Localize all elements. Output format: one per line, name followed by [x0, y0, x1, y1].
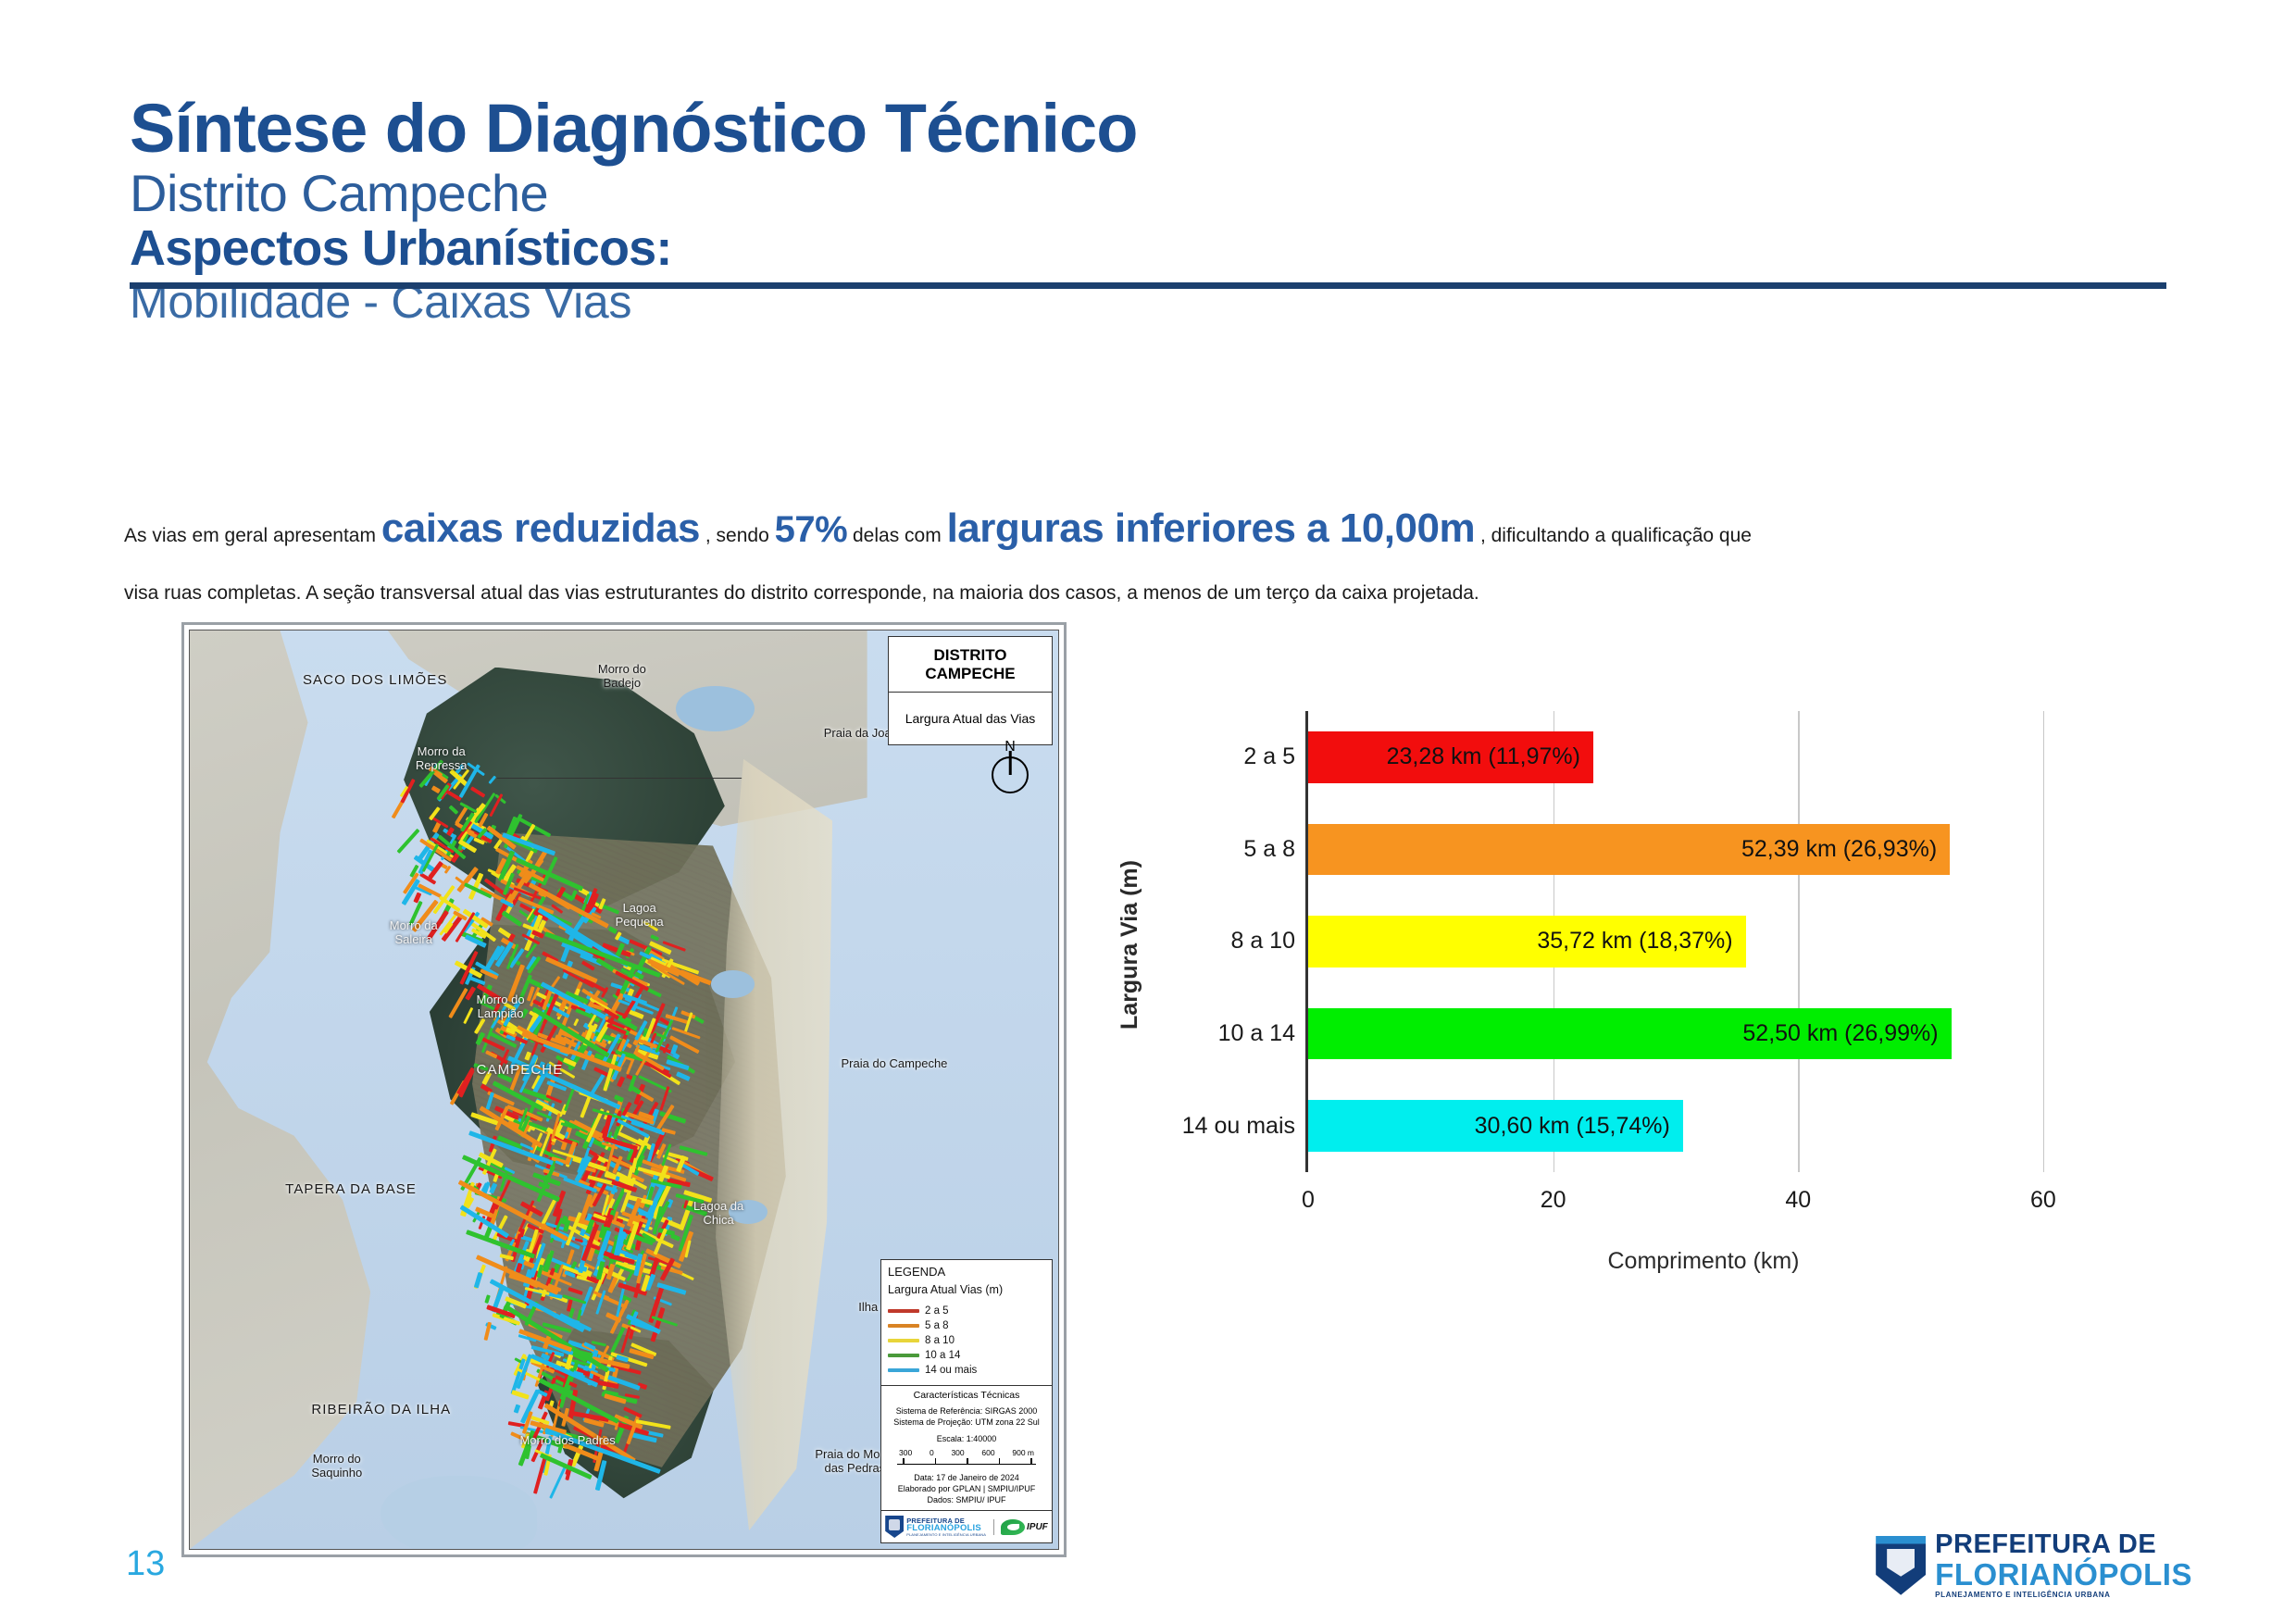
footer-logo-line1: PREFEITURA DE — [1935, 1531, 2192, 1559]
header-block: Síntese do Diagnóstico Técnico Distrito … — [130, 93, 2166, 328]
chart-bar-row: 10 a 1452,50 km (26,99%) — [1308, 1008, 2102, 1060]
chart-y-axis-label-text: Largura Via (m) — [1117, 860, 1143, 1030]
ipuf-logo: IPUF — [993, 1519, 1048, 1535]
body-text-c: delas com — [853, 525, 942, 546]
page-title: Síntese do Diagnóstico Técnico — [130, 93, 2166, 165]
footer-logo-line3: PLANEJAMENTO E INTELIGÊNCIA URBANA — [1935, 1592, 2192, 1599]
body-text-d: , dificultando a qualificação que — [1480, 525, 1752, 546]
map-logo-row: PREFEITURA DE FLORIANÓPOLIS PLANEJAMENTO… — [881, 1510, 1052, 1542]
prefeitura-logo-small: PREFEITURA DE FLORIANÓPOLIS PLANEJAMENTO… — [885, 1516, 986, 1538]
bar-chart: Largura Via (m) 2 a 523,28 km (11,97%)5 … — [1111, 704, 2176, 1315]
legend-item: 8 a 10 — [888, 1335, 1045, 1346]
legend-subheading: Largura Atual Vias (m) — [888, 1283, 1045, 1296]
technical-reference-system: Sistema de Referência: SIRGAS 2000 — [886, 1405, 1047, 1417]
legend-item: 14 ou mais — [888, 1365, 1045, 1376]
prefeitura-shield-icon — [885, 1516, 904, 1538]
map-technical-block: Características Técnicas Sistema de Refe… — [881, 1385, 1052, 1510]
legend-color-swatch — [888, 1309, 919, 1313]
chart-bar: 23,28 km (11,97%) — [1308, 731, 1593, 783]
prefeitura-logo-line3: PLANEJAMENTO E INTELIGÊNCIA URBANA — [906, 1533, 986, 1537]
legend-item-label: 5 a 8 — [925, 1320, 949, 1331]
chart-bar: 35,72 km (18,37%) — [1308, 916, 1746, 968]
chart-x-tick-label: 60 — [2030, 1187, 2056, 1214]
legend-color-swatch — [888, 1368, 919, 1372]
technical-heading: Características Técnicas — [886, 1390, 1047, 1401]
body-highlight-larguras: larguras inferiores a 10,00m — [947, 506, 1476, 551]
prefeitura-logo-words: PREFEITURA DE FLORIANÓPOLIS PLANEJAMENTO… — [906, 1517, 986, 1537]
legend-color-swatch — [888, 1354, 919, 1357]
map-subtitle-text: Largura Atual das Vias — [889, 693, 1052, 744]
body-highlight-caixas: caixas reduzidas — [381, 506, 700, 551]
scalebar-tick-labels: 3000300600900 m — [897, 1448, 1036, 1457]
map-title-line2: CAMPECHE — [892, 665, 1048, 683]
scalebar-tick: 600 — [981, 1448, 994, 1457]
header-district: Distrito Campeche — [130, 165, 2166, 222]
scalebar-tick: 300 — [951, 1448, 964, 1457]
chart-category-label: 5 a 8 — [1243, 836, 1295, 863]
chart-x-tick-label: 0 — [1302, 1187, 1315, 1214]
body-paragraph: As vias em geral apresentam caixas reduz… — [124, 507, 2216, 604]
header-section: Aspectos Urbanísticos: — [130, 221, 2166, 276]
chart-category-label: 14 ou mais — [1182, 1113, 1295, 1140]
legend-item-label: 14 ou mais — [925, 1365, 977, 1376]
body-text-a: As vias em geral apresentam — [124, 525, 376, 546]
chart-bar: 30,60 km (15,74%) — [1308, 1100, 1683, 1152]
chart-category-label: 8 a 10 — [1230, 928, 1295, 955]
map-legend-cartouche: LEGENDA Largura Atual Vias (m) 2 a 55 a … — [880, 1259, 1053, 1543]
header-divider — [130, 282, 2166, 289]
body-line-2: visa ruas completas. A seção transversal… — [124, 583, 2216, 604]
legend-item-label: 10 a 14 — [925, 1350, 960, 1361]
chart-plot-area: 2 a 523,28 km (11,97%)5 a 852,39 km (26,… — [1305, 711, 2102, 1172]
chart-bar-row: 5 a 852,39 km (26,93%) — [1308, 824, 2102, 876]
map-figure: SACO DOS LIMÕESMorro do BadejoMorro da R… — [181, 622, 1067, 1557]
ipuf-logo-text: IPUF — [1027, 1522, 1048, 1532]
body-text-b: , sendo — [705, 525, 769, 546]
chart-bar-row: 8 a 1035,72 km (18,37%) — [1308, 916, 2102, 968]
footer-prefeitura-logo: PREFEITURA DE FLORIANÓPOLIS PLANEJAMENTO… — [1876, 1531, 2192, 1599]
slide-root: Síntese do Diagnóstico Técnico Distrito … — [0, 0, 2296, 1623]
chart-bar: 52,50 km (26,99%) — [1308, 1008, 1952, 1060]
chart-category-label: 2 a 5 — [1243, 743, 1295, 770]
chart-bar-value-label: 30,60 km (15,74%) — [1475, 1113, 1670, 1140]
map-canvas: SACO DOS LIMÕESMorro do BadejoMorro da R… — [189, 630, 1059, 1550]
chart-bar: 52,39 km (26,93%) — [1308, 824, 1950, 876]
map-title-cartouche: DISTRITO CAMPECHE Largura Atual das Vias — [888, 636, 1053, 745]
legend-items-list: 2 a 55 a 88 a 1010 a 1414 ou mais — [881, 1296, 1052, 1385]
chart-x-tick-label: 20 — [1541, 1187, 1566, 1214]
chart-x-axis-label: Comprimento (km) — [1305, 1248, 2102, 1275]
chart-x-tick-label: 40 — [1785, 1187, 1811, 1214]
scalebar-bar — [897, 1458, 1036, 1465]
footer-logo-words: PREFEITURA DE FLORIANÓPOLIS PLANEJAMENTO… — [1935, 1531, 2192, 1599]
map-title-text: DISTRITO CAMPECHE — [889, 637, 1052, 693]
chart-y-axis-label: Largura Via (m) — [1111, 704, 1148, 1185]
legend-heading: LEGENDA — [888, 1265, 1045, 1279]
footer-shield-icon — [1876, 1536, 1926, 1595]
chart-bar-value-label: 52,39 km (26,93%) — [1741, 836, 1937, 863]
chart-bar-value-label: 23,28 km (11,97%) — [1387, 743, 1580, 770]
body-highlight-percent: 57% — [775, 509, 848, 550]
body-line-1: As vias em geral apresentam caixas reduz… — [124, 507, 2216, 550]
legend-item: 2 a 5 — [888, 1305, 1045, 1317]
chart-bar-value-label: 35,72 km (18,37%) — [1537, 928, 1732, 955]
chart-category-label: 10 a 14 — [1218, 1020, 1295, 1047]
legend-header: LEGENDA Largura Atual Vias (m) — [881, 1260, 1052, 1296]
technical-author: Elaborado por GPLAN | SMPIU/IPUF — [886, 1483, 1047, 1494]
technical-date: Data: 17 de Janeiro de 2024 — [886, 1472, 1047, 1483]
technical-scale: Escala: 1:40000 — [886, 1433, 1047, 1444]
page-number: 13 — [126, 1544, 165, 1584]
scalebar-tick: 300 — [899, 1448, 912, 1457]
scalebar-tick: 900 m — [1012, 1448, 1034, 1457]
legend-item: 5 a 8 — [888, 1320, 1045, 1331]
ipuf-mark-icon — [1001, 1519, 1025, 1535]
map-title-line1: DISTRITO — [892, 646, 1048, 665]
footer-logo-line2: FLORIANÓPOLIS — [1935, 1559, 2192, 1591]
technical-source: Dados: SMPIU/ IPUF — [886, 1494, 1047, 1505]
scalebar-tick: 0 — [930, 1448, 934, 1457]
legend-item-label: 8 a 10 — [925, 1335, 955, 1346]
map-scalebar: 3000300600900 m — [897, 1448, 1036, 1465]
legend-item: 10 a 14 — [888, 1350, 1045, 1361]
legend-color-swatch — [888, 1339, 919, 1342]
chart-bar-value-label: 52,50 km (26,99%) — [1742, 1020, 1938, 1047]
chart-bar-row: 14 ou mais30,60 km (15,74%) — [1308, 1100, 2102, 1152]
legend-item-label: 2 a 5 — [925, 1305, 949, 1317]
technical-projection-system: Sistema de Projeção: UTM zona 22 Sul — [886, 1417, 1047, 1428]
legend-color-swatch — [888, 1324, 919, 1328]
chart-bar-row: 2 a 523,28 km (11,97%) — [1308, 731, 2102, 783]
